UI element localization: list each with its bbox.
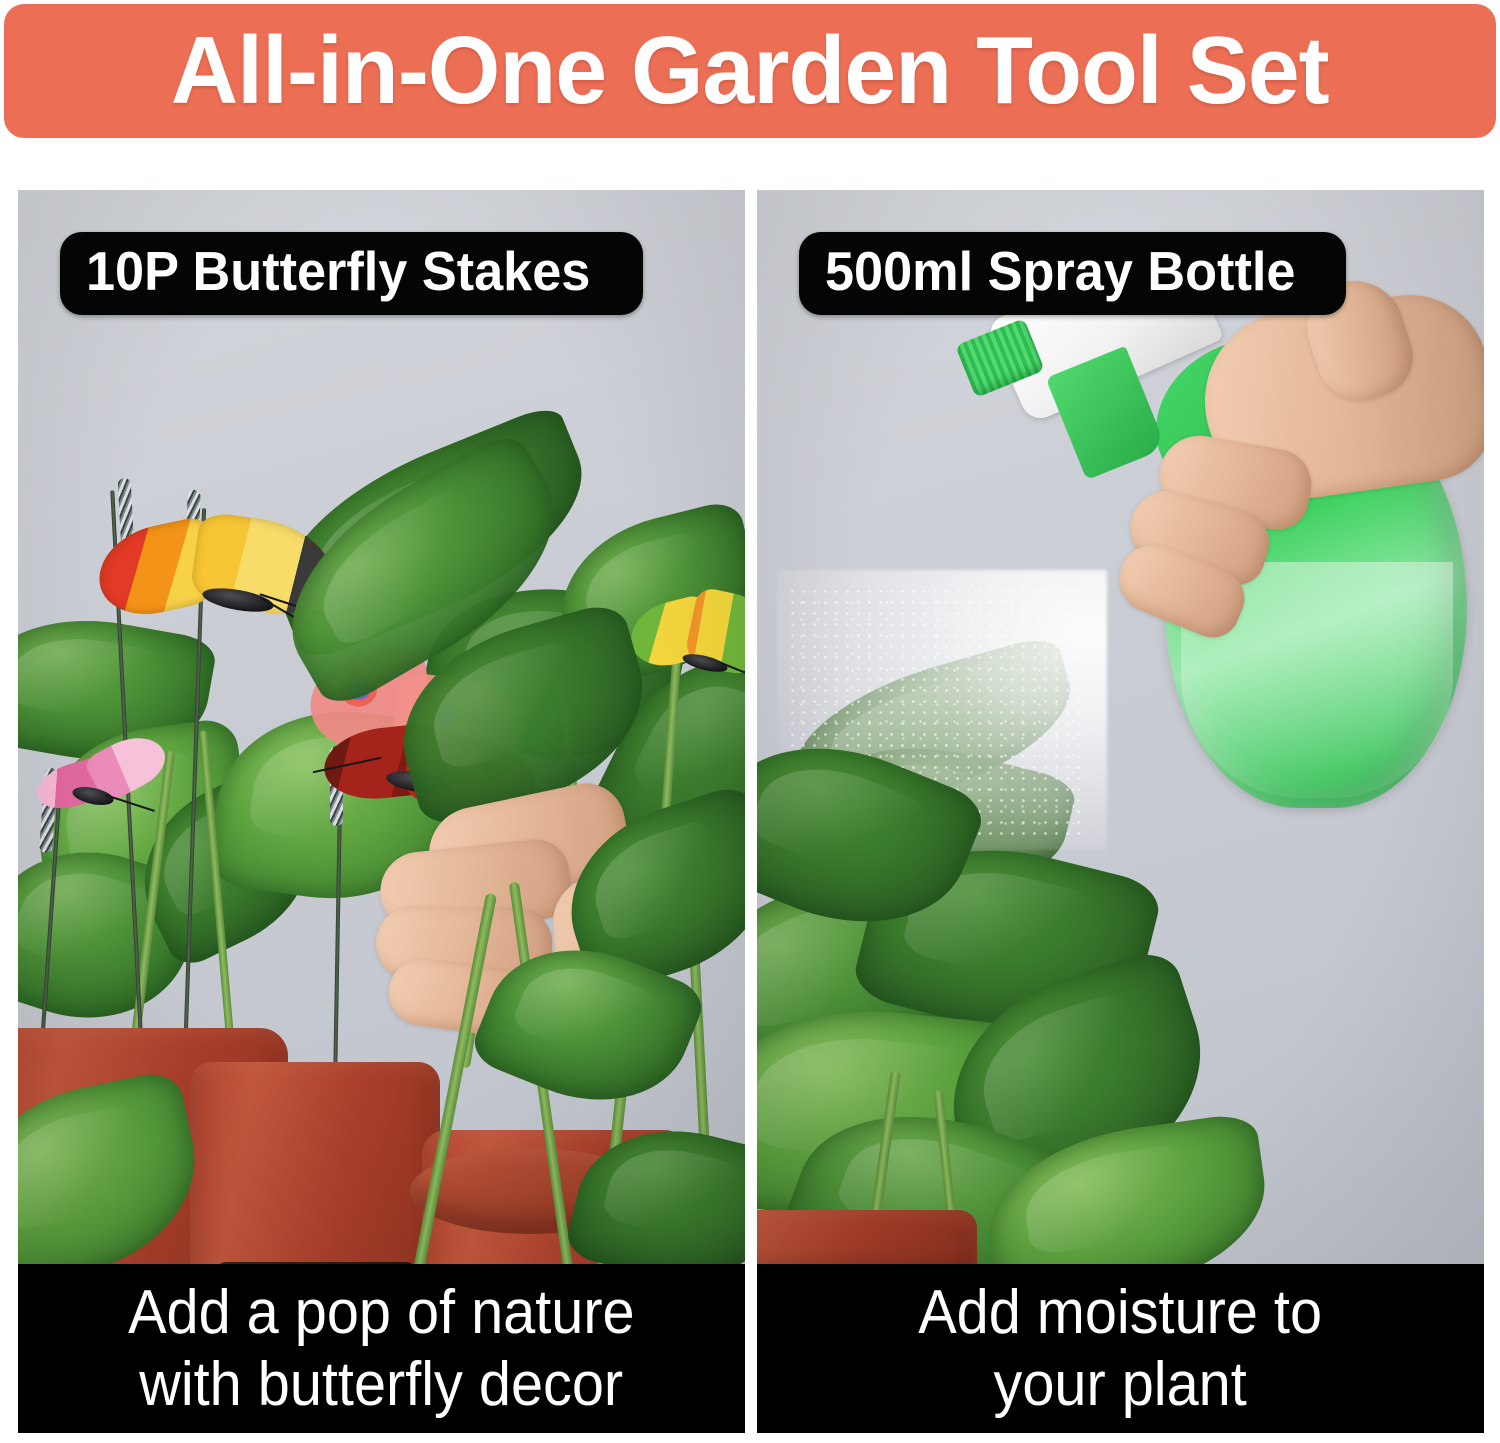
panel-grid: 10P Butterfly Stakes Add a pop of nature… <box>0 150 1500 1440</box>
photo-butterfly-stakes: 10P Butterfly Stakes <box>18 190 745 1264</box>
caption-line: Add moisture to <box>919 1278 1323 1347</box>
pink-butterfly <box>36 738 166 828</box>
product-infographic: All-in-One Garden Tool Set <box>0 0 1500 1443</box>
caption-line: with butterfly decor <box>140 1350 624 1419</box>
caption-line: your plant <box>994 1350 1247 1419</box>
panel-spray-bottle: 500ml Spray Bottle Add moisture to your … <box>757 190 1484 1433</box>
caption-line: Add a pop of nature <box>128 1278 635 1347</box>
hand <box>1075 274 1484 674</box>
badge-spray-bottle: 500ml Spray Bottle <box>799 232 1346 315</box>
photo-spray-bottle: 500ml Spray Bottle <box>757 190 1484 1264</box>
green-yellow-butterfly <box>630 594 745 704</box>
badge-butterfly-stakes: 10P Butterfly Stakes <box>60 232 643 315</box>
butterfly-antenna <box>105 794 155 812</box>
caption-butterfly-stakes: Add a pop of nature with butterfly decor <box>18 1264 745 1433</box>
scene-spray-bottle <box>757 190 1484 1264</box>
badge-label: 500ml Spray Bottle <box>825 244 1295 299</box>
header-banner: All-in-One Garden Tool Set <box>4 4 1496 138</box>
caption-spray-bottle: Add moisture to your plant <box>757 1264 1484 1433</box>
scene-butterfly-stakes <box>18 190 745 1264</box>
badge-label: 10P Butterfly Stakes <box>86 244 590 299</box>
panel-butterfly-stakes: 10P Butterfly Stakes Add a pop of nature… <box>18 190 745 1433</box>
page-title: All-in-One Garden Tool Set <box>171 23 1329 119</box>
planter <box>757 1210 977 1264</box>
planter-center-column <box>190 1062 440 1264</box>
